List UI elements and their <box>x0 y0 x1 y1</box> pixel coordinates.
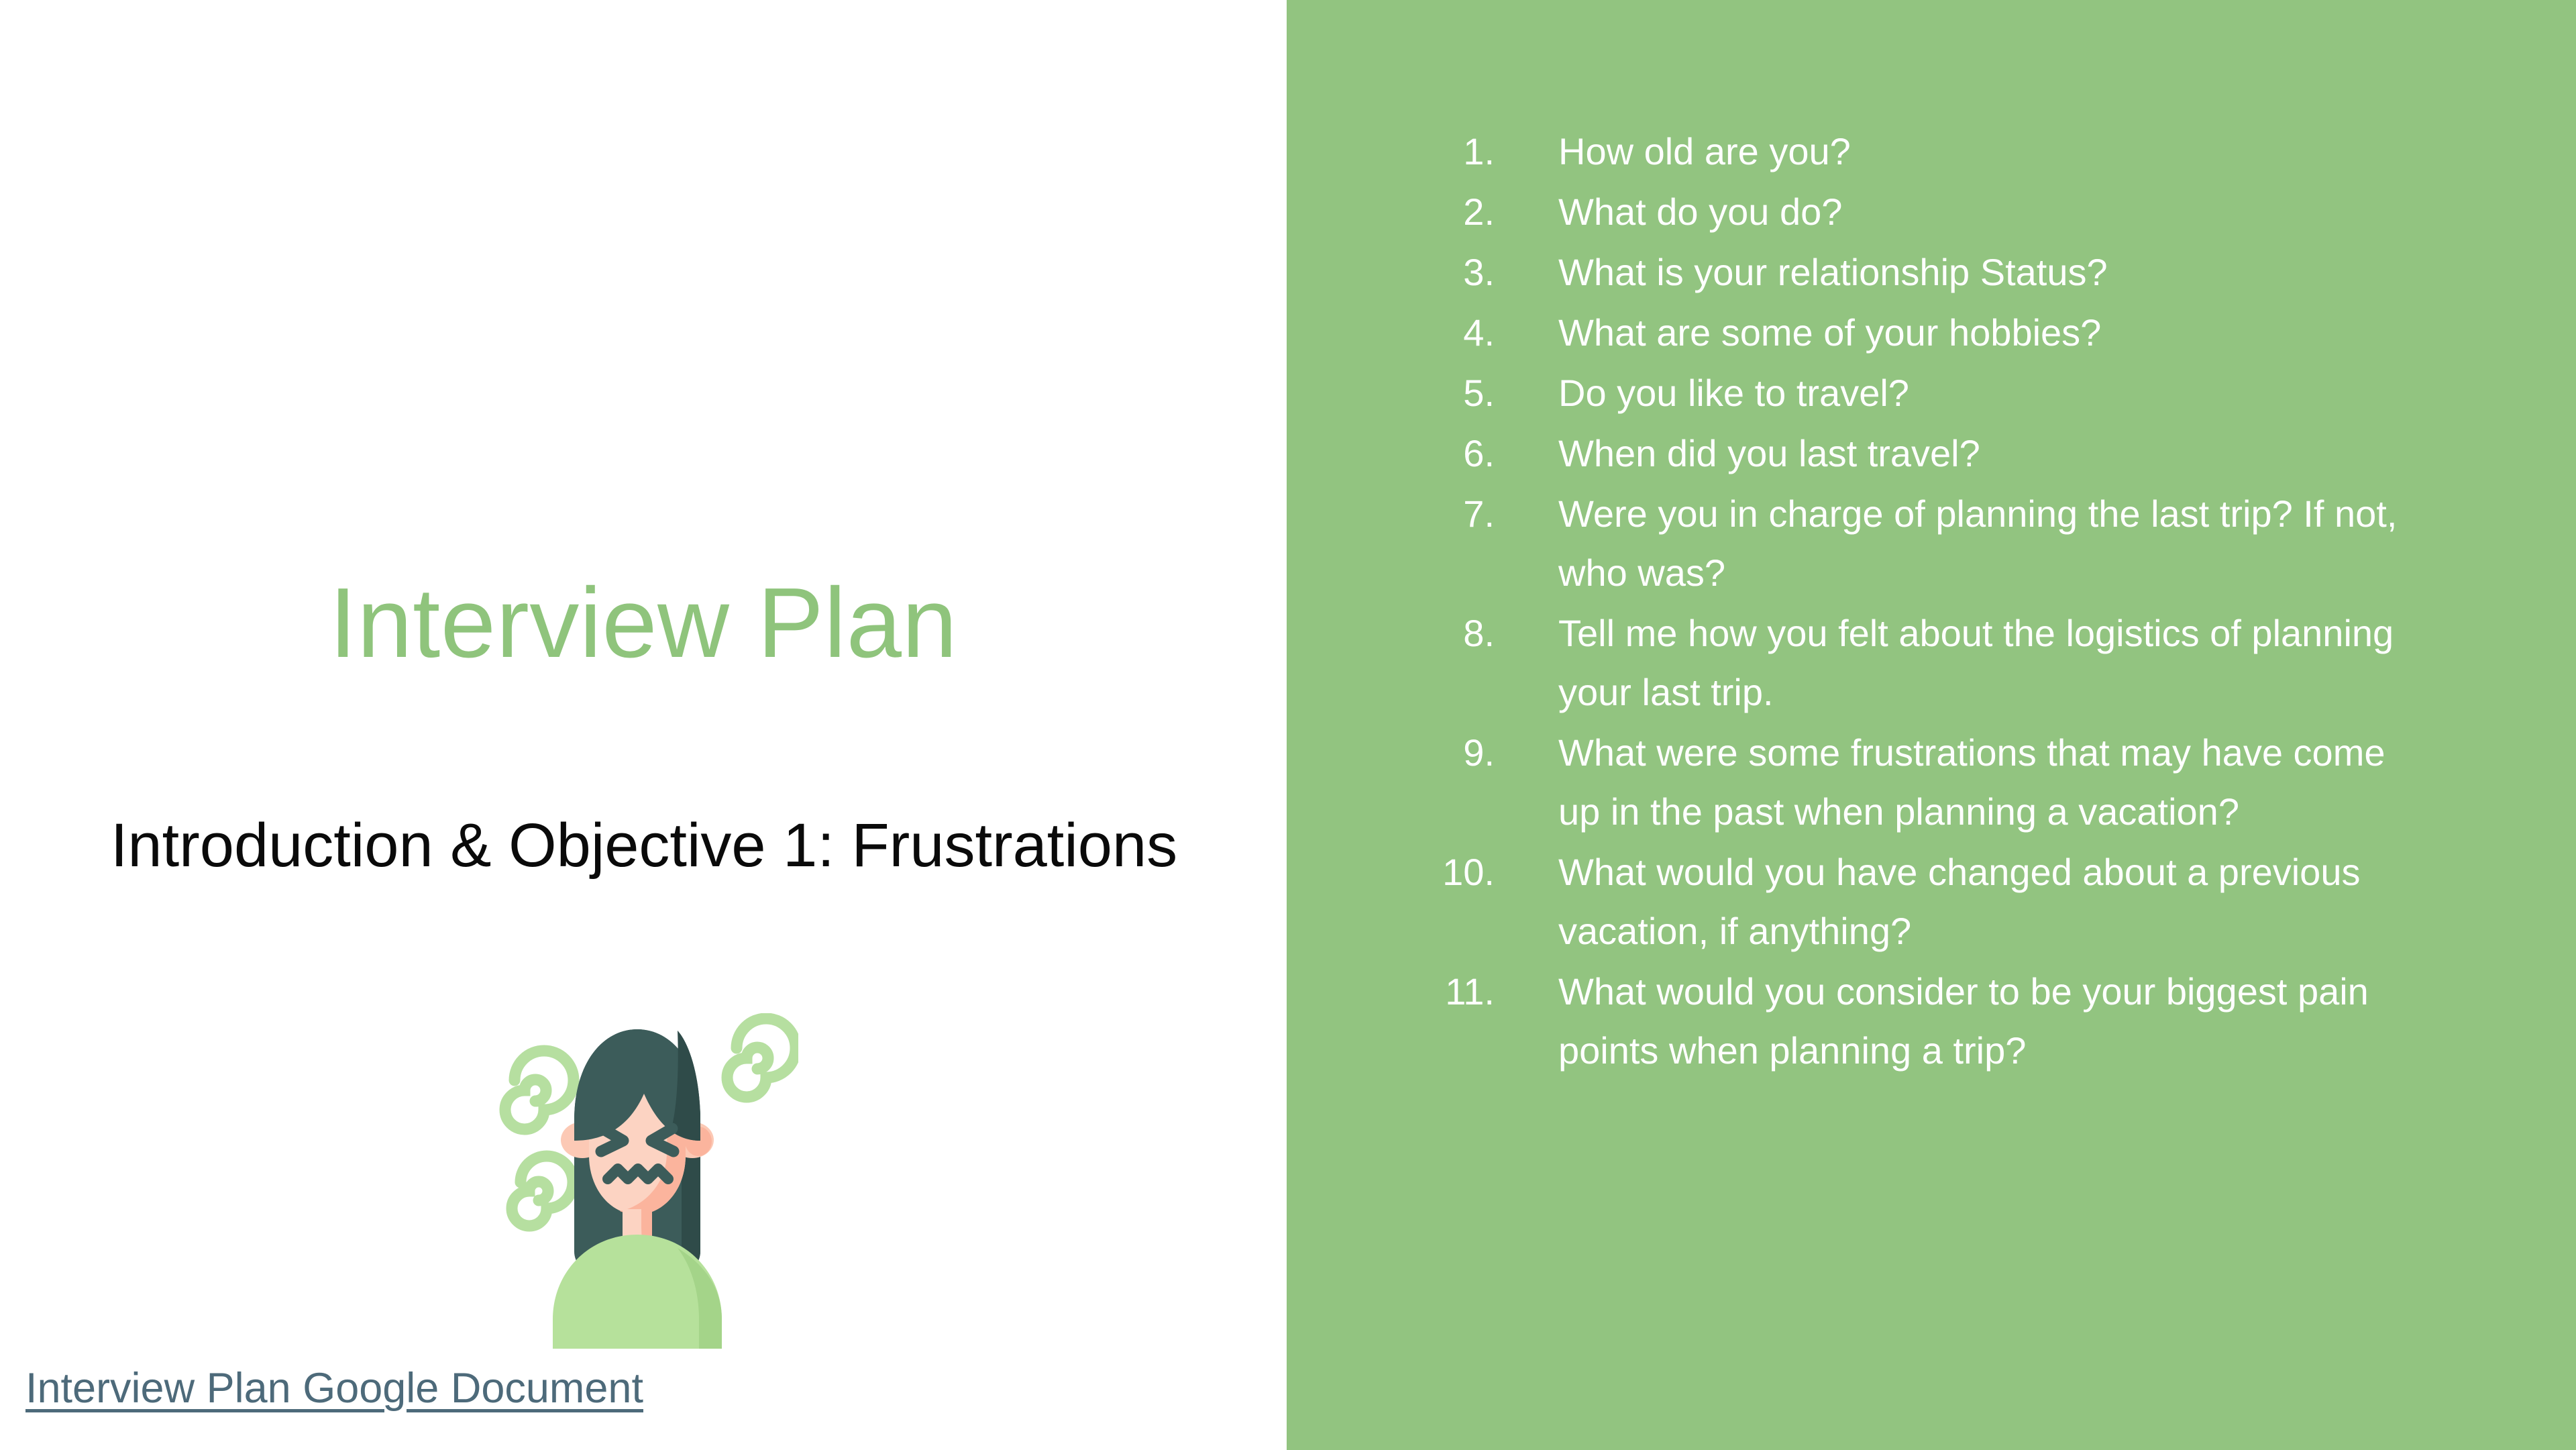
right-green-panel: 1. How old are you? 2. What do you do? 3… <box>1287 0 2576 1450</box>
list-item-text: When did you last travel? <box>1558 424 2420 483</box>
list-item-number: 9. <box>1414 723 1495 782</box>
list-item: 9. What were some frustrations that may … <box>1414 723 2420 841</box>
list-item: 6. When did you last travel? <box>1414 424 2420 483</box>
list-item: 11. What would you consider to be your b… <box>1414 962 2420 1080</box>
list-item-text: How old are you? <box>1558 122 2420 181</box>
swirl-icon <box>512 1156 573 1226</box>
interview-question-list: 1. How old are you? 2. What do you do? 3… <box>1414 122 2420 1082</box>
list-item-text: What would you have changed about a prev… <box>1558 843 2420 961</box>
list-item-number: 11. <box>1414 962 1495 1021</box>
list-item-number: 10. <box>1414 843 1495 902</box>
list-item-text: What is your relationship Status? <box>1558 243 2420 302</box>
list-item: 8. Tell me how you felt about the logist… <box>1414 604 2420 722</box>
list-item-text: What are some of your hobbies? <box>1558 303 2420 362</box>
list-item-number: 7. <box>1414 484 1495 543</box>
list-item-number: 3. <box>1414 243 1495 302</box>
list-item-number: 2. <box>1414 183 1495 242</box>
list-item-text: Do you like to travel? <box>1558 364 2420 423</box>
page-title: Interview Plan <box>0 574 1287 673</box>
swirl-icon <box>727 1019 796 1097</box>
list-item-number: 1. <box>1414 122 1495 181</box>
list-item-text: What do you do? <box>1558 183 2420 242</box>
interview-plan-google-document-link[interactable]: Interview Plan Google Document <box>25 1367 643 1410</box>
list-item-number: 5. <box>1414 364 1495 423</box>
swirl-icon <box>505 1051 574 1129</box>
list-item-number: 8. <box>1414 604 1495 663</box>
list-item-text: What were some frustrations that may hav… <box>1558 723 2420 841</box>
list-item: 2. What do you do? <box>1414 183 2420 242</box>
list-item: 4. What are some of your hobbies? <box>1414 303 2420 362</box>
list-item-text: Were you in charge of planning the last … <box>1558 484 2420 603</box>
left-panel: Interview Plan Introduction & Objective … <box>0 0 1287 1450</box>
page-subtitle: Introduction & Objective 1: Frustrations <box>80 807 1207 886</box>
slide-canvas: Interview Plan Introduction & Objective … <box>0 0 2576 1450</box>
frustrated-person-illustration <box>476 1013 798 1349</box>
list-item: 3. What is your relationship Status? <box>1414 243 2420 302</box>
list-item-number: 6. <box>1414 424 1495 483</box>
list-item: 10. What would you have changed about a … <box>1414 843 2420 961</box>
list-item-text: What would you consider to be your bigge… <box>1558 962 2420 1080</box>
list-item: 5. Do you like to travel? <box>1414 364 2420 423</box>
list-item-text: Tell me how you felt about the logistics… <box>1558 604 2420 722</box>
list-item-number: 4. <box>1414 303 1495 362</box>
list-item: 1. How old are you? <box>1414 122 2420 181</box>
list-item: 7. Were you in charge of planning the la… <box>1414 484 2420 603</box>
